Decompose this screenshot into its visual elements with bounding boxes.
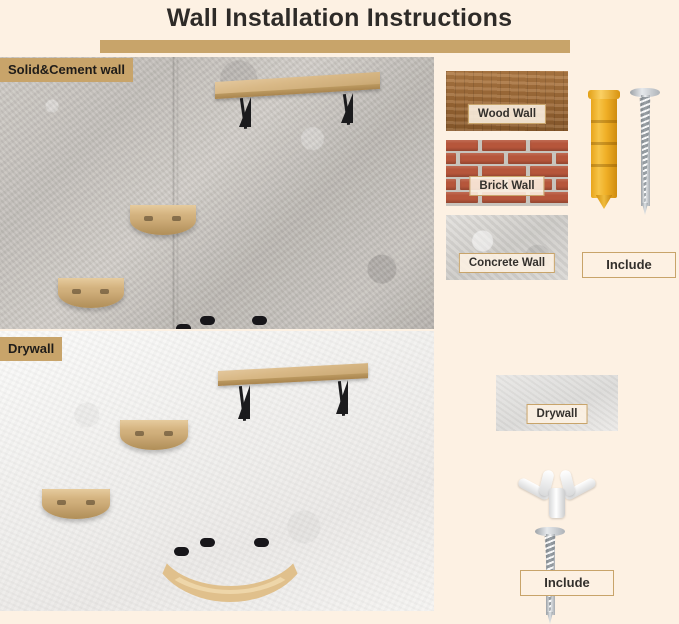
hook-slot-left: [144, 216, 153, 221]
photo-drywall: [0, 331, 434, 611]
wall-shelf-with-brackets: [215, 82, 380, 142]
hook-slot-left: [135, 431, 144, 436]
metal-screw: [630, 88, 660, 206]
hook-slot-right: [86, 500, 95, 505]
page-title: Wall Installation Instructions: [0, 4, 679, 33]
materials-and-hardware-column: Wood Wall Brick Wall Concrete Wall: [434, 57, 679, 611]
brick-texture: [446, 140, 568, 206]
hook-slot-right: [164, 431, 173, 436]
hook-slot-right: [172, 216, 181, 221]
screw-point: [547, 612, 553, 624]
swatch-brick-wall: Brick Wall: [446, 140, 568, 206]
photo-solid-cement-wall: [0, 57, 434, 329]
title-underline: [100, 40, 570, 53]
toggle-body: [549, 488, 565, 518]
instruction-graphic: Wall Installation Instructions: [0, 0, 679, 611]
caption-drywall: Drywall: [527, 404, 588, 424]
caption-brick-wall: Brick Wall: [469, 176, 544, 196]
rack-grip-mid: [200, 316, 215, 325]
curved-board-rack: [150, 534, 296, 586]
hook-top-face: [42, 489, 110, 499]
swatch-drywall: Drywall: [496, 375, 618, 431]
include-label-solid-wall: Include: [582, 252, 676, 278]
screw-threads: [637, 97, 654, 206]
anchor-rib: [591, 142, 617, 145]
hook-slot-left: [72, 289, 81, 294]
rack-grip-right: [254, 538, 269, 547]
hook-slot-right: [100, 289, 109, 294]
label-drywall: Drywall: [0, 337, 62, 361]
plastic-expansion-anchor: [591, 90, 617, 198]
rack-stripe: [150, 538, 310, 594]
half-round-wall-hook: [42, 489, 110, 519]
label-solid-cement-wall: Solid&Cement wall: [0, 58, 133, 82]
anchor-collar: [588, 90, 620, 99]
hook-top-face: [120, 420, 188, 430]
half-round-wall-hook: [58, 278, 124, 308]
concrete-seam-secondary: [176, 57, 179, 329]
anchor-rib: [591, 120, 617, 123]
rack-grip-left: [176, 324, 191, 329]
screw-point: [642, 203, 648, 215]
caption-concrete-wall: Concrete Wall: [459, 253, 555, 273]
hook-top-face: [58, 278, 124, 288]
anchor-tip: [596, 195, 613, 209]
rack-grip-mid: [200, 538, 215, 547]
hook-slot-left: [57, 500, 66, 505]
caption-wood-wall: Wood Wall: [468, 104, 546, 124]
half-round-wall-hook: [120, 420, 188, 450]
swatch-wood-wall: Wood Wall: [446, 71, 568, 131]
curved-board-rack: [156, 312, 292, 329]
anchor-rib: [591, 164, 617, 167]
toggle-butterfly-anchor: [517, 470, 597, 518]
rack-grip-left: [174, 547, 189, 556]
rack-grip-right: [252, 316, 267, 325]
swatch-concrete-wall: Concrete Wall: [446, 215, 568, 280]
include-label-drywall: Include: [520, 570, 614, 596]
half-round-wall-hook: [130, 205, 196, 235]
hook-top-face: [130, 205, 196, 215]
wall-shelf-with-brackets: [218, 371, 368, 431]
concrete-seam: [172, 57, 175, 329]
